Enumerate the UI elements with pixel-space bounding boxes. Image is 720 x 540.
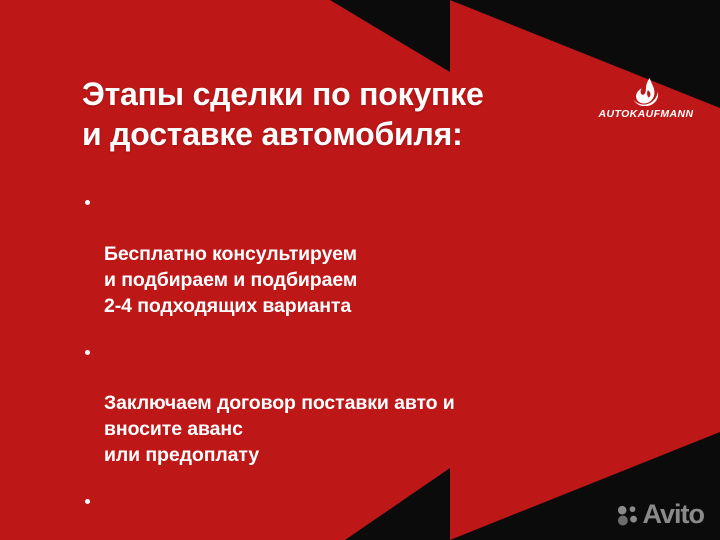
list-item-label: Заключаем договор поставки авто и вносит… (104, 392, 455, 466)
avito-watermark: Avito (616, 501, 705, 528)
steps-list: Бесплатно консультируем и подбираем и по… (82, 190, 622, 540)
bullet-dot-icon (85, 200, 90, 205)
flame-swoosh-icon (631, 76, 661, 106)
bullet-dot-icon (85, 350, 90, 355)
avito-dots-icon (616, 504, 638, 526)
poster-canvas: Этапы сделки по покупке и доставке автом… (0, 0, 720, 540)
list-item: Бесплатно консультируем и подбираем и по… (82, 190, 622, 320)
list-item-label: Бесплатно консультируем и подбираем и по… (104, 243, 357, 317)
page-title: Этапы сделки по покупке и доставке автом… (82, 74, 602, 155)
brand-name: AUTOKAUFMANN (594, 109, 698, 120)
list-item: Заключаем договор поставки авто и вносит… (82, 340, 622, 470)
bullet-dot-icon (85, 499, 90, 504)
list-item: Выкуп автомобиля, его доставка и таможен… (82, 489, 622, 540)
avito-wordmark: Avito (643, 501, 705, 528)
brand-logo: AUTOKAUFMANN (594, 76, 698, 120)
